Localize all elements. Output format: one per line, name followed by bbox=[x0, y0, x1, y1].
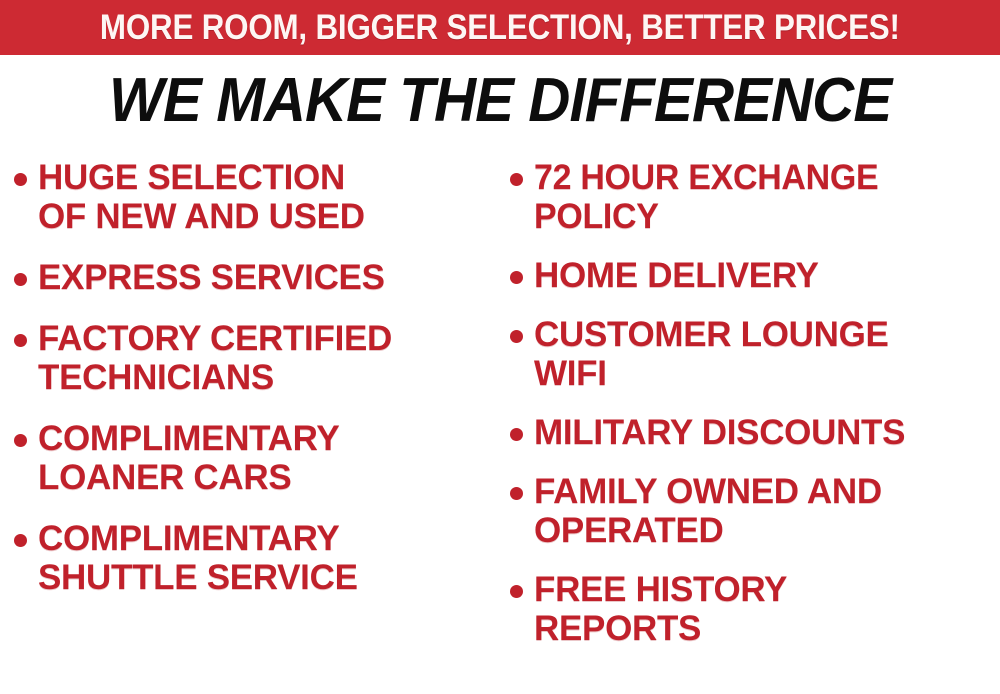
bullet-dot-icon bbox=[14, 173, 27, 186]
list-item-label: FACTORY CERTIFIED TECHNICIANS bbox=[38, 319, 392, 397]
bullet-dot-icon bbox=[510, 585, 523, 598]
page-title: WE MAKE THE DIFFERENCE bbox=[109, 68, 891, 134]
list-item: HOME DELIVERY bbox=[510, 256, 1000, 295]
list-item-label: EXPRESS SERVICES bbox=[38, 258, 385, 297]
bullet-dot-icon bbox=[510, 428, 523, 441]
banner-headline: MORE ROOM, BIGGER SELECTION, BETTER PRIC… bbox=[100, 10, 900, 46]
benefits-column-left: HUGE SELECTION OF NEW AND USED EXPRESS S… bbox=[14, 158, 504, 619]
bullet-dot-icon bbox=[510, 173, 523, 186]
top-banner: MORE ROOM, BIGGER SELECTION, BETTER PRIC… bbox=[0, 0, 1000, 55]
list-item-label: HOME DELIVERY bbox=[534, 256, 819, 295]
list-item: COMPLIMENTARY LOANER CARS bbox=[14, 419, 504, 497]
list-item-label: COMPLIMENTARY LOANER CARS bbox=[38, 419, 339, 497]
list-item-label: CUSTOMER LOUNGE WIFI bbox=[534, 315, 889, 393]
list-item-label: MILITARY DISCOUNTS bbox=[534, 413, 905, 452]
benefits-columns: HUGE SELECTION OF NEW AND USED EXPRESS S… bbox=[0, 158, 1000, 694]
list-item: COMPLIMENTARY SHUTTLE SERVICE bbox=[14, 519, 504, 597]
benefits-column-right: 72 HOUR EXCHANGE POLICY HOME DELIVERY CU… bbox=[510, 158, 1000, 668]
bullet-dot-icon bbox=[14, 534, 27, 547]
bullet-dot-icon bbox=[14, 334, 27, 347]
list-item: MILITARY DISCOUNTS bbox=[510, 413, 1000, 452]
list-item: FREE HISTORY REPORTS bbox=[510, 570, 1000, 648]
list-item-label: COMPLIMENTARY SHUTTLE SERVICE bbox=[38, 519, 358, 597]
bullet-dot-icon bbox=[14, 273, 27, 286]
list-item: FACTORY CERTIFIED TECHNICIANS bbox=[14, 319, 504, 397]
list-item: 72 HOUR EXCHANGE POLICY bbox=[510, 158, 1000, 236]
list-item-label: FREE HISTORY REPORTS bbox=[534, 570, 787, 648]
bullet-dot-icon bbox=[510, 487, 523, 500]
list-item: HUGE SELECTION OF NEW AND USED bbox=[14, 158, 504, 236]
list-item-label: 72 HOUR EXCHANGE POLICY bbox=[534, 158, 878, 236]
bullet-dot-icon bbox=[510, 330, 523, 343]
bullet-dot-icon bbox=[510, 271, 523, 284]
promo-poster: MORE ROOM, BIGGER SELECTION, BETTER PRIC… bbox=[0, 0, 1000, 694]
list-item-label: FAMILY OWNED AND OPERATED bbox=[534, 472, 882, 550]
list-item: CUSTOMER LOUNGE WIFI bbox=[510, 315, 1000, 393]
list-item: FAMILY OWNED AND OPERATED bbox=[510, 472, 1000, 550]
main-headline-container: WE MAKE THE DIFFERENCE bbox=[0, 68, 1000, 134]
list-item: EXPRESS SERVICES bbox=[14, 258, 504, 297]
bullet-dot-icon bbox=[14, 434, 27, 447]
list-item-label: HUGE SELECTION OF NEW AND USED bbox=[38, 158, 365, 236]
